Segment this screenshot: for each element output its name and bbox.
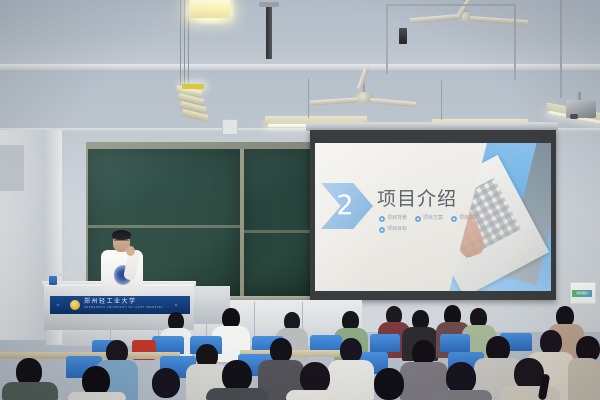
slide-bullet-item: 项目目标 [379,226,407,233]
person-head [374,368,404,400]
light-hanger-wire [441,80,442,120]
projection-screen-surface: 2 项目介绍 项目背景 项目方案 项目实现 [315,143,551,291]
light-hanger-wire [308,78,309,118]
projector-lens [570,114,578,119]
person-body [2,382,58,400]
chalkboard-divider [240,149,244,296]
chalkboard-slide-rail [88,225,240,228]
banner-star-icon [56,303,60,307]
slide-title: 项目介绍 [377,187,457,211]
podium-university-banner: 郑州轻工业大学 ZHENGZHOU UNIVERSITY OF LIGHT IN… [50,296,190,314]
ceiling [0,0,600,68]
wall-panel [0,145,24,191]
slide-bullet-label: 项目实现 [459,215,479,222]
ceiling-light-tube [190,0,230,18]
chalkboard-panel-right [244,149,316,296]
podium-cup [49,276,57,285]
slide-bullet-list: 项目背景 项目方案 项目实现 项目目标 [379,215,497,237]
wall-box [222,119,238,135]
bullet-dot-icon [379,227,385,233]
slide-bullet-row: 项目目标 [379,226,497,233]
wall-switchbox [399,28,407,44]
speaker-glasses [114,240,129,244]
ceiling-conduit [560,0,562,98]
slide-bullet-label: 项目目标 [387,226,407,233]
ceiling-conduit [386,4,388,74]
person-body [500,386,560,400]
slide-bullet-item: 项目背景 [379,215,407,222]
slide-bullet-label: 项目背景 [387,215,407,222]
banner-chinese-name: 郑州轻工业大学 [84,298,137,306]
person-body [430,390,492,400]
ceiling-speaker [266,5,272,59]
slide-section-number: 2 [331,189,359,223]
seat [370,334,400,352]
banner-english-name: ZHENGZHOU UNIVERSITY OF LIGHT INDUSTRY [84,306,163,310]
slide-bullet-label: 项目方案 [423,215,443,222]
slide-bullet-item: 项目实现 [451,215,479,222]
bullet-dot-icon [379,216,385,222]
bullet-dot-icon [451,216,457,222]
chalkboard-slide-rail [244,230,316,233]
slide-bullet-row: 项目背景 项目方案 项目实现 [379,215,497,222]
speaker-hand [126,246,135,256]
bullet-dot-icon [415,216,421,222]
person-body [568,358,600,400]
person-body [286,390,348,400]
person-body [68,392,126,400]
ceiling-conduit [386,4,516,6]
slide-bullet-item: 项目方案 [415,215,443,222]
speaker-hair [112,230,131,240]
university-logo-icon [70,300,80,310]
lecture-hall-photo: 2 项目介绍 项目背景 项目方案 项目实现 [0,0,600,400]
person-body [206,388,268,400]
person-head [152,368,180,398]
ceiling-conduit [514,4,516,80]
banner-star-icon [174,303,178,307]
wall-poster-caption: 消防器材 [571,291,593,295]
light-fixture-reflector [182,84,204,89]
ceiling-speaker-mount [259,2,279,7]
seat [440,334,470,352]
